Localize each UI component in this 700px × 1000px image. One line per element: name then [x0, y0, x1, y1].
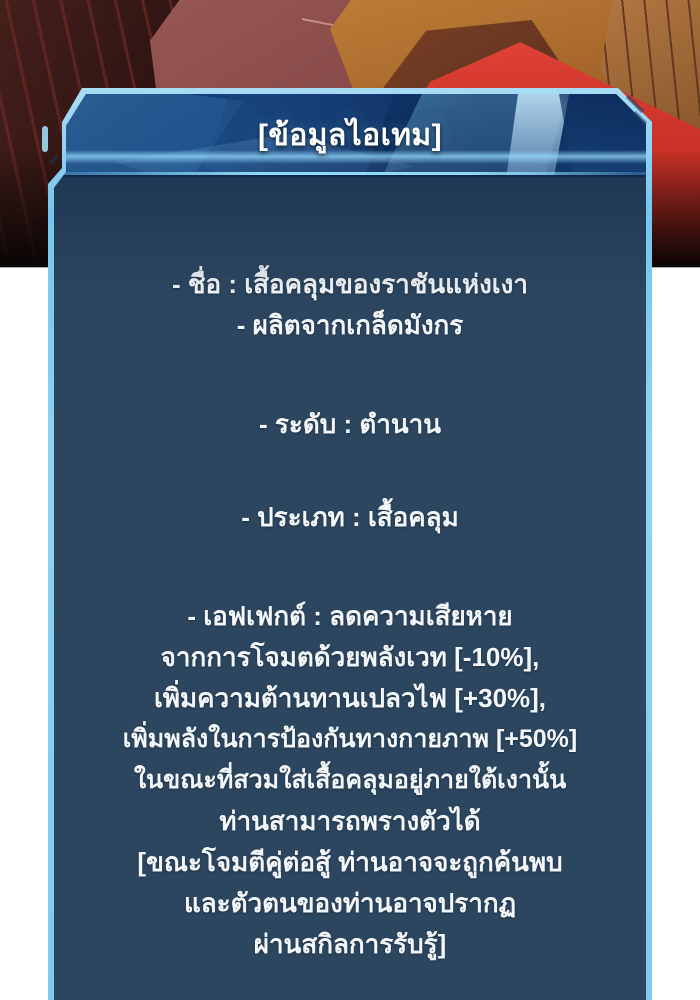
item-effect-block: - เอฟเฟกต์ : ลดความเสียหาย จากการโจมตด้ว…: [68, 596, 632, 965]
item-effect-line: - เอฟเฟกต์ : ลดความเสียหาย: [68, 596, 632, 637]
item-effect-line: จากการโจมตด้วยพลังเวท [-10%],: [68, 637, 632, 678]
item-effect-line: [ขณะโจมตีคู่ต่อสู้ ท่านอาจจะถูกค้นพบ: [68, 842, 632, 883]
item-material-line: - ผลิตจากเกล็ดมังกร: [68, 305, 632, 346]
window-inner-panel: [ข้อมูลไอเทม] - ชื่อ : เสื้อคลุมของราชัน…: [54, 94, 646, 1000]
item-details-body: - ชื่อ : เสื้อคลุมของราชันแห่งเงา - ผลิต…: [54, 180, 646, 1000]
item-effect-line: ท่านสามารถพรางตัวได้: [68, 801, 632, 842]
body-top-spacer: [68, 180, 632, 264]
frame-left-tick: [42, 126, 48, 152]
item-name-block: - ชื่อ : เสื้อคลุมของราชันแห่งเงา - ผลิต…: [68, 264, 632, 346]
spacer-after-name: [68, 346, 632, 404]
item-type-block: - ประเภท : เสื้อคลุม: [68, 497, 632, 538]
spacer-after-grade: [68, 445, 632, 497]
window-header: [ข้อมูลไอเทม]: [54, 94, 646, 180]
item-grade-block: - ระดับ : ตำนาน: [68, 404, 632, 445]
item-grade-line: - ระดับ : ตำนาน: [68, 404, 632, 445]
spacer-after-type: [68, 538, 632, 596]
item-effect-line: เพิ่มความต้านทานเปลวไฟ [+30%],: [68, 678, 632, 719]
item-effect-line: เพิ่มพลังในการป้องกันทางกายภาพ [+50%]: [68, 719, 632, 760]
frame-notch-left: [49, 155, 58, 164]
item-name-line: - ชื่อ : เสื้อคลุมของราชันแห่งเงา: [68, 264, 632, 305]
window-title: [ข้อมูลไอเทม]: [54, 94, 646, 176]
item-type-line: - ประเภท : เสื้อคลุม: [68, 497, 632, 538]
item-info-window: [ข้อมูลไอเทม] - ชื่อ : เสื้อคลุมของราชัน…: [48, 88, 652, 1000]
item-effect-line: ผ่านสกิลการรับรู้]: [68, 924, 632, 965]
item-effect-line: และตัวตนของท่านอาจปรากฏ: [68, 883, 632, 924]
item-effect-line: ในขณะที่สวมใส่เสื้อคลุมอยู่ภายใต้เงานั้น: [68, 760, 632, 801]
